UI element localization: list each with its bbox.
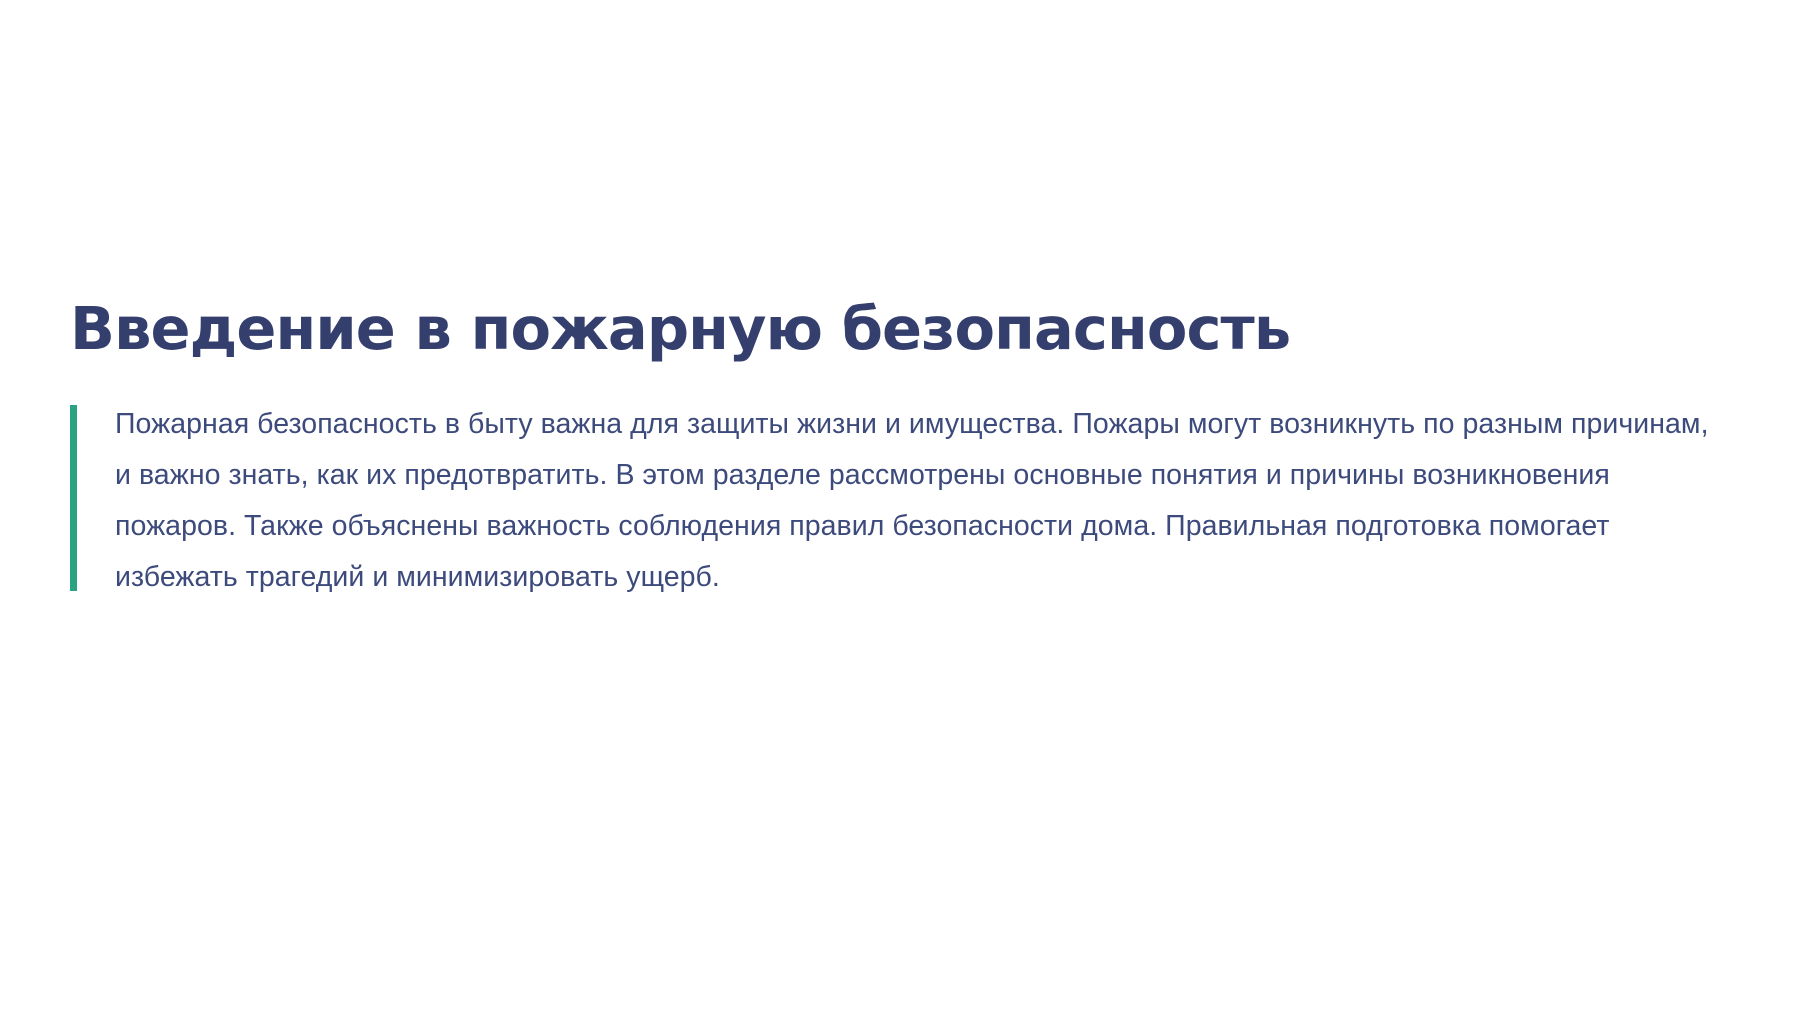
- body-paragraph: Пожарная безопасность в быту важна для з…: [115, 399, 1711, 603]
- accent-bar: [70, 405, 77, 591]
- content-block: Введение в пожарную безопасность Пожарна…: [70, 292, 1730, 603]
- body-text-block: Пожарная безопасность в быту важна для з…: [70, 399, 1730, 603]
- slide-canvas: Введение в пожарную безопасность Пожарна…: [0, 0, 1800, 1013]
- page-title: Введение в пожарную безопасность: [70, 292, 1730, 366]
